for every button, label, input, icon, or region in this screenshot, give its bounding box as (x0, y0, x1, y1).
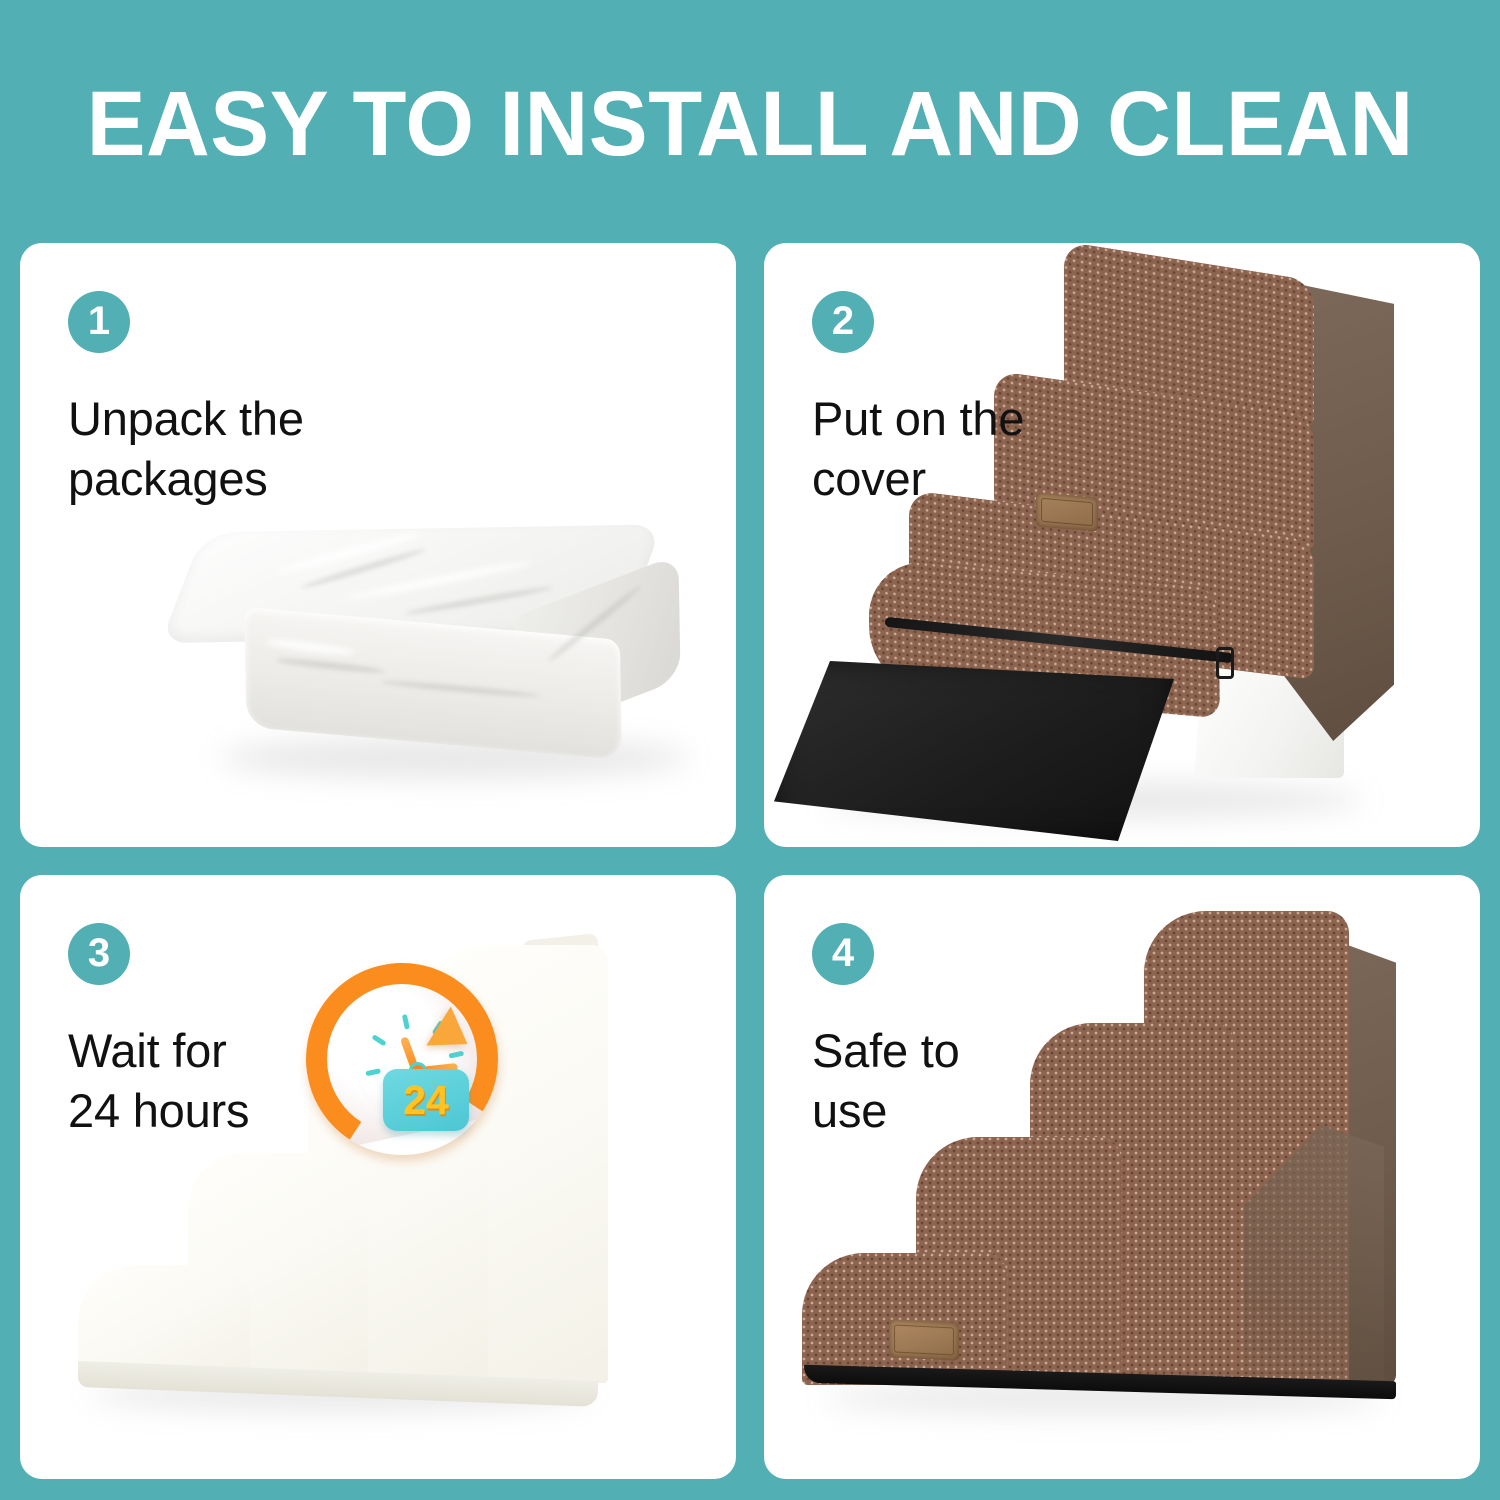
step-number-badge-1: 1 (68, 291, 130, 353)
step-4-head: 4 Safe to use (812, 923, 960, 1141)
brand-leather-label (889, 1319, 959, 1361)
step-number-badge-3: 3 (68, 923, 130, 985)
header-banner: EASY TO INSTALL AND CLEAN (0, 0, 1500, 240)
clock-24-hours-icon: 24 (298, 957, 503, 1142)
step-1-head: 1 Unpack the packages (68, 291, 304, 509)
step-3-head: 3 Wait for 24 hours (68, 923, 249, 1141)
step-card-2: 2 Put on the cover (764, 243, 1480, 847)
clock-tick (365, 1068, 381, 1076)
page-title: EASY TO INSTALL AND CLEAN (86, 78, 1413, 170)
clock-tick (371, 1034, 386, 1046)
step-card-3: 24 3 Wait for 24 hours (20, 875, 736, 1479)
clock-ring (288, 945, 516, 1173)
step-2-label: Put on the cover (812, 389, 1024, 509)
hours-badge: 24 (383, 1069, 469, 1131)
vacuum-sealed-foam-package-photo (203, 524, 707, 773)
step-number-badge-4: 4 (812, 923, 874, 985)
brand-leather-label (1036, 492, 1098, 531)
hours-badge-text: 24 (403, 1080, 449, 1121)
step-4-label: Safe to use (812, 1021, 960, 1141)
step-3-label: Wait for 24 hours (68, 1021, 249, 1141)
nonslip-black-bottom-mat (774, 661, 1174, 841)
step-1-label: Unpack the packages (68, 389, 304, 509)
clock-tick (402, 1014, 410, 1030)
step-2-head: 2 Put on the cover (812, 291, 1024, 509)
steps-grid: 1 Unpack the packages 2 Put on th (20, 243, 1480, 1479)
step-card-4: 4 Safe to use (764, 875, 1480, 1479)
step-card-1: 1 Unpack the packages (20, 243, 736, 847)
zipper-pull-icon (1216, 647, 1234, 679)
step-number-badge-2: 2 (812, 291, 874, 353)
infographic-page: EASY TO INSTALL AND CLEAN (0, 0, 1500, 1500)
